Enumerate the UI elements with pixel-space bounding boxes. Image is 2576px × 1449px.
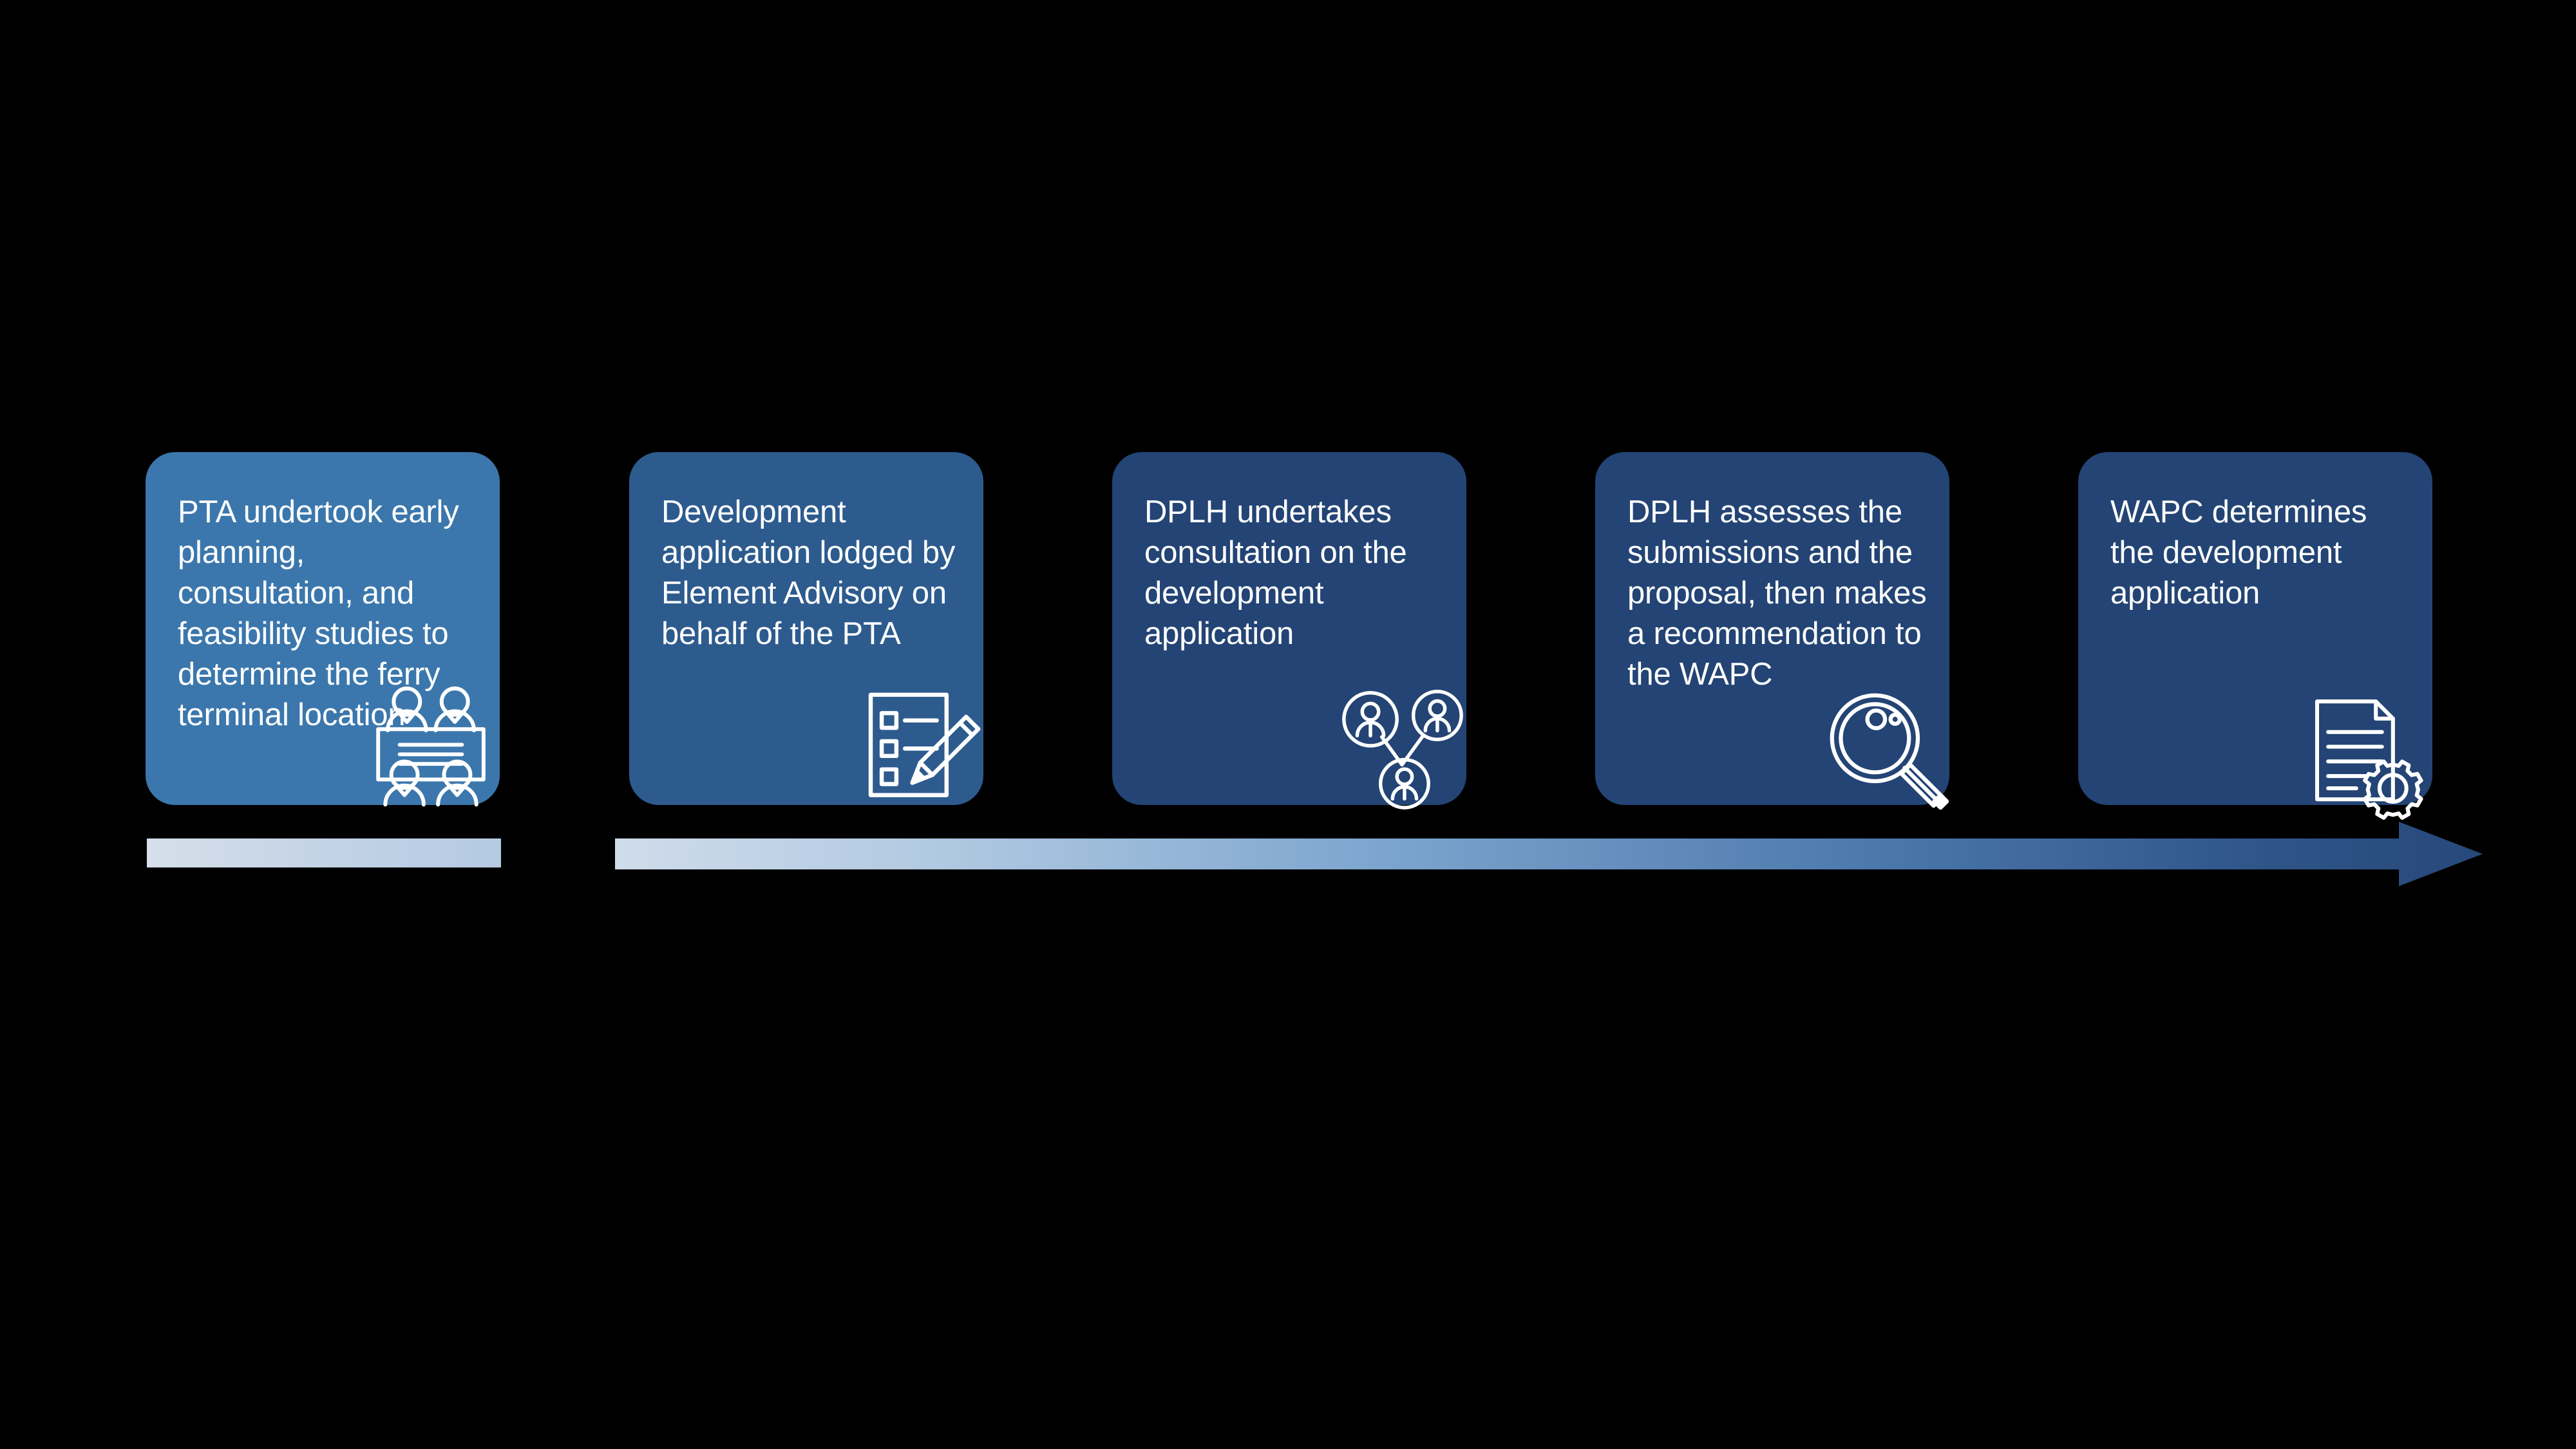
process-step-label-1: PTA undertook early planning, consultati… — [178, 492, 483, 735]
process-step-card-2[interactable]: Development application lodged by Elemen… — [629, 452, 983, 805]
people-network-icon — [1339, 684, 1465, 810]
process-diagram-canvas: PTA undertook early planning, consultati… — [0, 0, 2576, 1449]
process-step-label-5: WAPC determines the development applicat… — [2110, 492, 2416, 614]
process-step-label-4: DPLH assesses the submissions and the pr… — [1627, 492, 1933, 695]
process-step-card-3[interactable]: DPLH undertakes consultation on the deve… — [1112, 452, 1466, 805]
document-gear-icon — [2305, 692, 2427, 814]
timeline-stub-bar — [147, 838, 501, 867]
process-step-card-4[interactable]: DPLH assesses the submissions and the pr… — [1595, 452, 1949, 805]
process-step-card-1[interactable]: PTA undertook early planning, consultati… — [146, 452, 500, 805]
magnifying-glass-icon — [1823, 687, 1949, 813]
process-step-label-3: DPLH undertakes consultation on the deve… — [1144, 492, 1450, 654]
process-step-label-2: Development application lodged by Elemen… — [661, 492, 967, 654]
timeline-main-arrow — [615, 822, 2483, 886]
process-step-card-5[interactable]: WAPC determines the development applicat… — [2078, 452, 2432, 805]
checklist-pen-icon — [858, 680, 981, 802]
